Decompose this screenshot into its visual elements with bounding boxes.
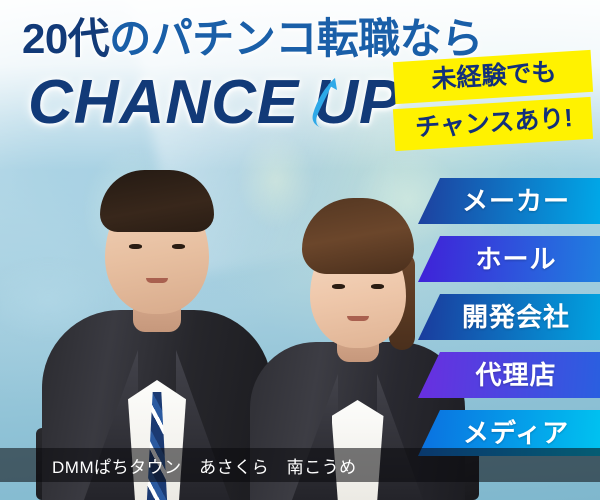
brand-logo-main: CHANCE [28,68,299,137]
category-label: メーカー [448,188,570,214]
headline-part-dark: 20代 [22,15,109,62]
badge-line-1: 未経験でも [393,50,593,104]
advertisement-banner[interactable]: 20代のパチンコ転職なら CHANCEUP 未経験でも チャンスあり! メーカー… [0,0,600,500]
headline-part-blue: のパチンコ転職なら [109,15,483,62]
brand-logo: CHANCEUP [28,72,401,134]
brand-logo-accent: UP [313,68,401,137]
category-label: 代理店 [461,362,556,388]
headline: 20代のパチンコ転職なら [22,18,483,60]
credit-bar: DMMぱちタウン あさくら 南こうめ [0,448,600,482]
category-button-maker[interactable]: メーカー [418,178,600,224]
category-button-hall[interactable]: ホール [418,236,600,282]
badge-line-2: チャンスあり! [393,97,593,151]
credit-text: DMMぱちタウン あさくら 南こうめ [0,453,357,478]
category-button-developer[interactable]: 開発会社 [418,294,600,340]
brand-logo-accent-wrap: UP [313,72,401,134]
category-list: メーカー ホール 開発会社 代理店 メディア [418,178,600,468]
category-label: メディア [449,420,569,446]
category-label: 開発会社 [448,304,570,330]
category-label: ホール [461,246,556,272]
status-badge: 未経験でも チャンスあり! [394,56,592,145]
category-button-agency[interactable]: 代理店 [418,352,600,398]
